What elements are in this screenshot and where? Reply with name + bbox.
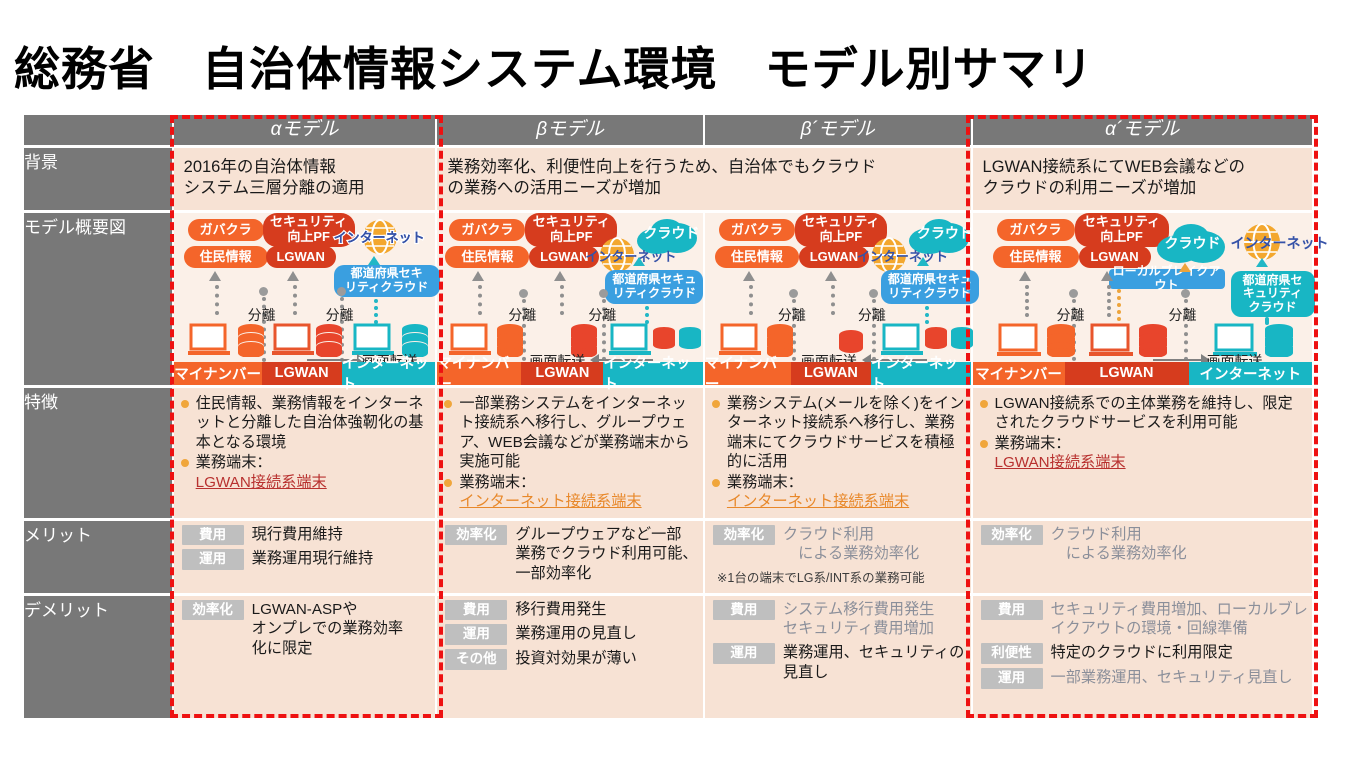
pill-local-breakout: ローカルブレイクアウト bbox=[1109, 269, 1225, 289]
arrow-up-2 bbox=[1101, 271, 1113, 281]
table-header-row: αモデル βモデル β´モデル α´モデル bbox=[24, 115, 1312, 145]
pill-pref-sec-cloud: 都道府県セキュリティクラウド bbox=[1231, 271, 1315, 317]
tagged-item-text: 業務運用の見直し bbox=[515, 624, 637, 644]
background-text-beta: 業務効率化、利便性向上を行うため、自治体でもクラウドの業務への活用ニーズが増加 bbox=[437, 148, 970, 210]
dashed-line-cyan bbox=[925, 306, 929, 324]
category-tag: 効率化 bbox=[713, 525, 775, 546]
tagged-item-text: 現行費用維持 bbox=[252, 525, 343, 545]
pill-gov-cloud: ガバクラ bbox=[719, 219, 795, 241]
database-icon-mynumber bbox=[1045, 323, 1077, 357]
security-pf-line2: 向上PF bbox=[287, 230, 330, 245]
row-label-model-diagram: モデル概要図 bbox=[24, 213, 172, 385]
demerits-beta-dash: 費用システム移行費用発生セキュリティ費用増加運用業務運用、セキュリティの見直し bbox=[705, 600, 971, 683]
demerits-beta: 費用移行費用発生運用業務運用の見直しその他投資対効果が薄い bbox=[437, 600, 703, 671]
pref-cloud-l3: クラウド bbox=[1249, 301, 1297, 314]
security-pf-line2: 向上PF bbox=[820, 230, 863, 245]
separator-dot-2 bbox=[1181, 289, 1190, 298]
network-bar-row-alpha-dash: マイナンバー LGWAN インターネット bbox=[973, 362, 1312, 385]
cell-diagram-alpha-dash: ガバクラ 住民情報 セキュリティ向上PF LGWAN クラウド bbox=[973, 213, 1312, 385]
diagram-beta: ガバクラ 住民情報 セキュリティ向上PF LGWAN クラウド bbox=[437, 213, 703, 385]
pill-lgwan: LGWAN bbox=[266, 246, 336, 268]
separate-label-2: 分離 bbox=[1169, 305, 1197, 325]
pill-resident-info: 住民情報 bbox=[184, 246, 268, 268]
dashed-line-1 bbox=[1025, 285, 1029, 317]
arrow-up-1 bbox=[743, 271, 755, 281]
category-tag: 費用 bbox=[981, 600, 1043, 621]
slide-root: 総務省 自治体情報システム環境 モデル別サマリ αモデル βモデル β´モデル … bbox=[0, 0, 1351, 762]
tagged-item: 費用現行費用維持 bbox=[174, 525, 436, 546]
diagram-alpha-dash: ガバクラ 住民情報 セキュリティ向上PF LGWAN クラウド bbox=[973, 213, 1312, 385]
tagged-item-text: システム移行費用発生セキュリティ費用増加 bbox=[783, 600, 934, 640]
background-text-alpha: 2016年の自治体情報システム三層分離の適用 bbox=[174, 148, 436, 210]
label-internet-alpha-dash: インターネット bbox=[1231, 233, 1329, 253]
category-tag: 費用 bbox=[182, 525, 244, 546]
tagged-item: 運用業務運用の見直し bbox=[437, 624, 703, 645]
bar-internet: インターネット bbox=[342, 362, 436, 385]
merits-beta: 効率化グループウェアなど一部業務でクラウド利用可能、一部効率化 bbox=[437, 525, 703, 584]
arrow-up-2 bbox=[287, 271, 299, 281]
tagged-item-text: クラウド利用 による業務効率化 bbox=[783, 525, 919, 565]
diagram-alpha: ガバクラ 住民情報 セキュリティ向上PF LGWAN インターネット インタ bbox=[174, 213, 436, 385]
separator-dot-1 bbox=[789, 289, 798, 298]
terminal-type-label: LGWAN接続系端末 bbox=[995, 454, 1126, 471]
dashed-line-cyan bbox=[374, 299, 378, 324]
cell-demerits-alpha-dash: 費用セキュリティ費用増加、ローカルブレイクアウトの環境・回線準備利便性特定のクラ… bbox=[973, 596, 1312, 718]
arrow-up-2 bbox=[554, 271, 566, 281]
tagged-item: 費用セキュリティ費用増加、ローカルブレイクアウトの環境・回線準備 bbox=[973, 600, 1312, 640]
demerits-alpha-dash: 費用セキュリティ費用増加、ローカルブレイクアウトの環境・回線準備利便性特定のクラ… bbox=[973, 600, 1312, 689]
cell-background-alpha-dash: LGWAN接続系にてWEB会議などのクラウドの利用ニーズが増加 bbox=[973, 148, 1312, 210]
bar-mynumber: マイナンバー bbox=[705, 362, 791, 385]
demerits-alpha: 効率化LGWAN-ASPやオンプレでの業務効率化に限定 bbox=[174, 600, 436, 659]
category-tag: 費用 bbox=[713, 600, 775, 621]
laptop-icon-mynumber bbox=[997, 323, 1043, 357]
list-item: 住民情報、業務情報をインターネットと分離した自治体強靭化の基本となる環境 bbox=[196, 394, 430, 452]
tagged-item: 効率化クラウド利用 による業務効率化 bbox=[973, 525, 1312, 565]
dashed-line-2 bbox=[560, 285, 564, 315]
bar-lgwan: LGWAN bbox=[262, 362, 342, 385]
separate-label-1: 分離 bbox=[778, 305, 806, 325]
page-title: 総務省 自治体情報システム環境 モデル別サマリ bbox=[14, 44, 1094, 95]
cell-features-alpha-dash: LGWAN接続系での主体業務を維持し、限定されたクラウドサービスを利用可能業務端… bbox=[973, 388, 1312, 518]
list-item: 業務システム(メールを除く)をインターネット接続系へ移行し、業務端末にてクラウド… bbox=[727, 394, 965, 472]
tagged-item-text: グループウェアなど一部業務でクラウド利用可能、一部効率化 bbox=[515, 525, 697, 584]
tagged-item-text: 一部業務運用、セキュリティ見直し bbox=[1051, 668, 1293, 688]
label-internet-alpha-fg: インターネット bbox=[334, 227, 425, 246]
list-item: 業務端末：LGWAN接続系端末 bbox=[196, 453, 430, 492]
merits-alpha: 費用現行費用維持運用業務運用現行維持 bbox=[174, 525, 436, 571]
arrow-up-1 bbox=[1019, 271, 1031, 281]
separate-label-2: 分離 bbox=[326, 305, 354, 325]
separator-dot-1 bbox=[1069, 289, 1078, 298]
bar-lgwan: LGWAN bbox=[1065, 362, 1189, 385]
row-label-demerits: デメリット bbox=[24, 596, 172, 718]
separate-label-1: 分離 bbox=[508, 305, 536, 325]
pref-cloud-l2: リティクラウド bbox=[345, 281, 428, 294]
merits-beta-dash: 効率化クラウド利用 による業務効率化 bbox=[705, 525, 971, 565]
column-header-beta-dash[interactable]: β´モデル bbox=[705, 115, 971, 145]
summary-table: αモデル βモデル β´モデル α´モデル 背景 2016年の自治体情報システム… bbox=[24, 115, 1312, 718]
cell-background-alpha: 2016年の自治体情報システム三層分離の適用 bbox=[174, 148, 436, 210]
separator-dot-1 bbox=[519, 289, 528, 298]
bar-lgwan: LGWAN bbox=[521, 362, 603, 385]
list-item: 一部業務システムをインターネット接続系へ移行し、グループウェア、WEB会議などが… bbox=[459, 394, 697, 472]
features-list-beta: 一部業務システムをインターネット接続系へ移行し、グループウェア、WEB会議などが… bbox=[437, 394, 703, 512]
row-model-diagram: モデル概要図 ガバクラ 住民情報 セキュリティ向上PF LGWAN bbox=[24, 213, 1312, 385]
security-pf-line2: 向上PF bbox=[1100, 230, 1143, 245]
label-internet-beta-dash: インターネット bbox=[857, 246, 948, 265]
category-tag: 運用 bbox=[713, 643, 775, 664]
separate-label-1: 分離 bbox=[248, 305, 276, 325]
pref-cloud-l2: キュリティ bbox=[1243, 287, 1302, 300]
pref-cloud-l1: 都道府県セキュ bbox=[888, 273, 972, 286]
row-features: 特徴 住民情報、業務情報をインターネットと分離した自治体強靭化の基本となる環境業… bbox=[24, 388, 1312, 518]
laptop-icon-lgwan bbox=[272, 323, 316, 357]
cell-features-alpha: 住民情報、業務情報をインターネットと分離した自治体強靭化の基本となる環境業務端末… bbox=[174, 388, 436, 518]
bar-internet: インターネット bbox=[871, 362, 971, 385]
features-list-beta-dash: 業務システム(メールを除く)をインターネット接続系へ移行し、業務端末にてクラウド… bbox=[705, 394, 971, 512]
security-pf-line1: セキュリティ bbox=[802, 215, 879, 230]
row-label-features: 特徴 bbox=[24, 388, 172, 518]
tagged-item-tail: 一部効率化 bbox=[515, 565, 591, 582]
tagged-item: 効率化LGWAN-ASPやオンプレでの業務効率化に限定 bbox=[174, 600, 436, 659]
dashed-line-2 bbox=[1107, 285, 1111, 317]
label-cloud-alpha-dash: クラウド bbox=[1165, 233, 1221, 253]
separate-label-2: 分離 bbox=[858, 305, 886, 325]
column-header-alpha-dash[interactable]: α´モデル bbox=[973, 115, 1312, 145]
arrow-up-cyan bbox=[1256, 258, 1268, 267]
row-background: 背景 2016年の自治体情報システム三層分離の適用 業務効率化、利便性向上を行う… bbox=[24, 148, 1312, 210]
tagged-item: その他投資対効果が薄い bbox=[437, 649, 703, 670]
transfer-arrow-line bbox=[1153, 359, 1203, 361]
cell-diagram-beta-dash: ガバクラ 住民情報 セキュリティ向上PF LGWAN クラウド bbox=[705, 213, 971, 385]
network-bar-row-alpha: マイナンバー LGWAN インターネット bbox=[174, 362, 436, 385]
category-tag: 運用 bbox=[182, 549, 244, 570]
pref-cloud-l1: 都道府県セキュ bbox=[612, 273, 696, 286]
tagged-item: 効率化グループウェアなど一部業務でクラウド利用可能、一部効率化 bbox=[437, 525, 703, 584]
cell-demerits-beta-dash: 費用システム移行費用発生セキュリティ費用増加運用業務運用、セキュリティの見直し bbox=[705, 596, 971, 718]
tagged-item: 効率化クラウド利用 による業務効率化 bbox=[705, 525, 971, 565]
merits-note-beta-dash: ※1台の端末でLG系/INT系の業務可能 bbox=[705, 567, 971, 586]
cell-diagram-alpha: ガバクラ 住民情報 セキュリティ向上PF LGWAN インターネット インタ bbox=[174, 213, 436, 385]
background-text-alpha-dash: LGWAN接続系にてWEB会議などのクラウドの利用ニーズが増加 bbox=[973, 148, 1312, 210]
pill-pref-sec-cloud: 都道府県セキュリティクラウド bbox=[881, 270, 979, 304]
database-icon-mynumber bbox=[236, 323, 266, 357]
tagged-item-text: 特定のクラウドに利用限定 bbox=[1051, 643, 1233, 663]
terminal-type-label: インターネット接続系端末 bbox=[459, 493, 641, 510]
pill-resident-info: 住民情報 bbox=[993, 246, 1079, 268]
pill-pref-sec-cloud: 都道府県セキリティクラウド bbox=[334, 265, 440, 297]
tagged-item: 運用業務運用、セキュリティの見直し bbox=[705, 643, 971, 683]
arrow-up-orange bbox=[1179, 263, 1191, 272]
laptop-icon-lgwan bbox=[1089, 323, 1135, 357]
category-tag: 費用 bbox=[445, 600, 507, 621]
features-list-alpha: 住民情報、業務情報をインターネットと分離した自治体強靭化の基本となる環境業務端末… bbox=[174, 394, 436, 492]
bar-internet: インターネット bbox=[603, 362, 703, 385]
cell-features-beta-dash: 業務システム(メールを除く)をインターネット接続系へ移行し、業務端末にてクラウド… bbox=[705, 388, 971, 518]
label-cloud-beta-dash: クラウド bbox=[917, 223, 973, 243]
dashed-line-1 bbox=[478, 285, 482, 315]
separator-dot-2 bbox=[337, 287, 346, 296]
database-icon-internet bbox=[1263, 323, 1295, 357]
tagged-item-text: セキュリティ費用増加、ローカルブレイクアウトの環境・回線準備 bbox=[1051, 600, 1308, 640]
bar-mynumber: マイナンバー bbox=[174, 362, 262, 385]
category-tag: 運用 bbox=[981, 668, 1043, 689]
network-bar-row-beta-dash: マイナンバー LGWAN インターネット bbox=[705, 362, 971, 385]
corner-cell bbox=[24, 115, 172, 145]
dashed-line-orange bbox=[1117, 289, 1121, 321]
tagged-item: 運用一部業務運用、セキュリティ見直し bbox=[973, 668, 1312, 689]
row-label-merits: メリット bbox=[24, 521, 172, 593]
pref-cloud-l2: リティクラウド bbox=[613, 287, 696, 300]
arrow-up-cyan bbox=[917, 257, 929, 266]
separator-dot-1 bbox=[259, 287, 268, 296]
category-tag: 利便性 bbox=[981, 643, 1043, 664]
cell-demerits-alpha: 効率化LGWAN-ASPやオンプレでの業務効率化に限定 bbox=[174, 596, 436, 718]
bar-mynumber: マイナンバー bbox=[973, 362, 1065, 385]
security-pf-line1: セキュリティ bbox=[533, 215, 610, 230]
arrow-up-cyan bbox=[368, 256, 380, 265]
row-merits: メリット 費用現行費用維持運用業務運用現行維持 効率化グループウェアなど一部業務… bbox=[24, 521, 1312, 593]
category-tag: 効率化 bbox=[182, 600, 244, 621]
tagged-item-text: 移行費用発生 bbox=[515, 600, 606, 620]
dashed-line-1 bbox=[215, 285, 219, 315]
dashed-line-cyan bbox=[645, 306, 649, 324]
database-icon-lgwan bbox=[1137, 323, 1169, 357]
arrow-up-cyan bbox=[633, 257, 645, 266]
merits-alpha-dash: 効率化クラウド利用 による業務効率化 bbox=[973, 525, 1312, 565]
arrow-up-1 bbox=[209, 271, 221, 281]
diagram-beta-dash: ガバクラ 住民情報 セキュリティ向上PF LGWAN クラウド bbox=[705, 213, 971, 385]
row-demerits: デメリット 効率化LGWAN-ASPやオンプレでの業務効率化に限定 費用移行費用… bbox=[24, 596, 1312, 718]
database-icon-lgwan bbox=[314, 323, 344, 357]
column-header-beta[interactable]: βモデル bbox=[437, 115, 703, 145]
column-header-alpha[interactable]: αモデル bbox=[174, 115, 436, 145]
pref-cloud-l2: リティクラウド bbox=[888, 287, 971, 300]
network-bar-row-beta: マイナンバー LGWAN インターネット bbox=[437, 362, 703, 385]
arrow-up-1 bbox=[472, 271, 484, 281]
row-label-background: 背景 bbox=[24, 148, 172, 210]
terminal-type-label: インターネット接続系端末 bbox=[727, 493, 909, 510]
list-item: 業務端末：インターネット接続系端末 bbox=[459, 473, 697, 512]
bar-internet: インターネット bbox=[1189, 362, 1312, 385]
pref-cloud-l1: 都道府県セキ bbox=[351, 267, 423, 280]
terminal-type-label: LGWAN接続系端末 bbox=[196, 474, 327, 491]
list-item: 業務端末：LGWAN接続系端末 bbox=[995, 434, 1306, 473]
list-item: LGWAN接続系での主体業務を維持し、限定されたクラウドサービスを利用可能 bbox=[995, 394, 1306, 433]
arrow-up-2 bbox=[825, 271, 837, 281]
list-item: 業務端末：インターネット接続系端末 bbox=[727, 473, 965, 512]
tagged-item-text: 投資対効果が薄い bbox=[515, 649, 637, 669]
pill-resident-info: 住民情報 bbox=[445, 246, 529, 268]
security-pf-line1: セキュリティ bbox=[1083, 215, 1160, 230]
category-tag: 効率化 bbox=[981, 525, 1043, 546]
tagged-item-text: クラウド利用 による業務効率化 bbox=[1051, 525, 1187, 565]
tagged-item: 利便性特定のクラウドに利用限定 bbox=[973, 643, 1312, 664]
tagged-item: 費用移行費用発生 bbox=[437, 600, 703, 621]
pill-gov-cloud: ガバクラ bbox=[449, 219, 525, 241]
cell-merits-beta-dash: 効率化クラウド利用 による業務効率化 ※1台の端末でLG系/INT系の業務可能 bbox=[705, 521, 971, 593]
cell-background-beta-betadash: 業務効率化、利便性向上を行うため、自治体でもクラウドの業務への活用ニーズが増加 bbox=[437, 148, 970, 210]
pref-cloud-l1: 都道府県セ bbox=[1243, 274, 1303, 287]
category-tag: 運用 bbox=[445, 624, 507, 645]
category-tag: 効率化 bbox=[445, 525, 507, 546]
cell-diagram-beta: ガバクラ 住民情報 セキュリティ向上PF LGWAN クラウド bbox=[437, 213, 703, 385]
separate-label-2: 分離 bbox=[588, 305, 616, 325]
bar-mynumber: マイナンバー bbox=[437, 362, 521, 385]
tagged-item-text: 業務運用、セキュリティの見直し bbox=[783, 643, 964, 683]
tagged-item-text: LGWAN-ASPやオンプレでの業務効率化に限定 bbox=[252, 600, 403, 659]
tagged-item: 費用システム移行費用発生セキュリティ費用増加 bbox=[705, 600, 971, 640]
separate-label-1: 分離 bbox=[1057, 305, 1085, 325]
bar-lgwan: LGWAN bbox=[791, 362, 871, 385]
cell-merits-alpha: 費用現行費用維持運用業務運用現行維持 bbox=[174, 521, 436, 593]
pill-resident-info: 住民情報 bbox=[715, 246, 799, 268]
pill-gov-cloud: ガバクラ bbox=[997, 219, 1075, 241]
pill-pref-sec-cloud: 都道府県セキュリティクラウド bbox=[605, 270, 703, 304]
separator-dot-2 bbox=[869, 289, 878, 298]
label-internet-beta: インターネット bbox=[585, 246, 676, 265]
pill-gov-cloud: ガバクラ bbox=[188, 219, 264, 241]
dashed-line-2 bbox=[831, 285, 835, 315]
cell-features-beta: 一部業務システムをインターネット接続系へ移行し、グループウェア、WEB会議などが… bbox=[437, 388, 703, 518]
dashed-line-2 bbox=[293, 285, 297, 315]
laptop-icon-mynumber bbox=[188, 323, 232, 357]
cell-demerits-beta: 費用移行費用発生運用業務運用の見直しその他投資対効果が薄い bbox=[437, 596, 703, 718]
category-tag: その他 bbox=[445, 649, 507, 670]
features-list-alpha-dash: LGWAN接続系での主体業務を維持し、限定されたクラウドサービスを利用可能業務端… bbox=[973, 394, 1312, 473]
cell-merits-alpha-dash: 効率化クラウド利用 による業務効率化 bbox=[973, 521, 1312, 593]
dashed-line-1 bbox=[749, 285, 753, 315]
label-cloud-beta: クラウド bbox=[643, 223, 699, 243]
security-pf-line2: 向上PF bbox=[550, 230, 593, 245]
tagged-item: 運用業務運用現行維持 bbox=[174, 549, 436, 570]
cell-merits-beta: 効率化グループウェアなど一部業務でクラウド利用可能、一部効率化 bbox=[437, 521, 703, 593]
tagged-item-text: 業務運用現行維持 bbox=[252, 549, 374, 569]
